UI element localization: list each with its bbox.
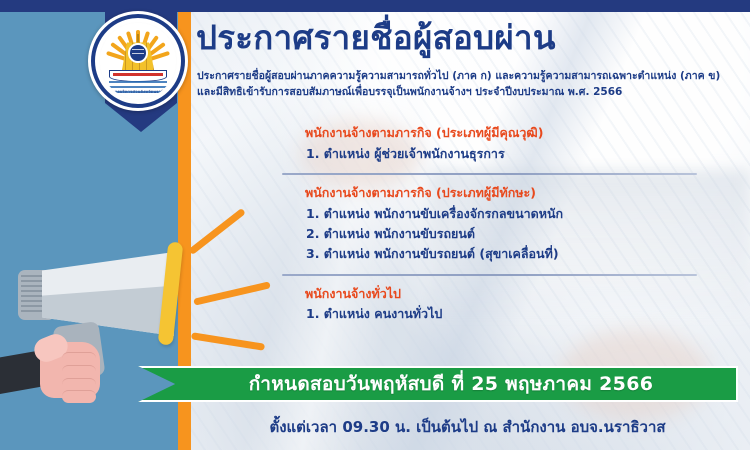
hand-finger	[62, 365, 96, 378]
seal-field: องค์การบริหารส่วนจังหวัดนราธิวาส	[100, 23, 176, 99]
section-heading: พนักงานจ้างตามภารกิจ (ประเภทผู้มีทักษะ)	[305, 184, 725, 203]
position-sections: พนักงานจ้างตามภารกิจ (ประเภทผู้มีคุณวุฒิ…	[305, 124, 725, 325]
subtitle-line-1: ประกาศรายชื่อผู้สอบผ่านภาคความรู้ความสาม…	[197, 69, 749, 84]
section-item: 3. ตำแหน่ง พนักงานขับรถยนต์ (สุขาเคลื่อน…	[305, 244, 725, 264]
seal-caption: องค์การบริหารส่วนจังหวัดนราธิวาส	[100, 88, 176, 95]
section-qualification: พนักงานจ้างตามภารกิจ (ประเภทผู้มีคุณวุฒิ…	[305, 124, 725, 164]
section-skill: พนักงานจ้างตามภารกิจ (ประเภทผู้มีทักษะ) …	[305, 184, 725, 265]
announcement-poster: องค์การบริหารส่วนจังหวัดนราธิวาส ประกาศร…	[0, 0, 750, 450]
section-heading: พนักงานจ้างทั่วไป	[305, 285, 725, 304]
exam-time-location-text: ตั้งแต่เวลา 09.30 น. เป็นต้นไป ณ สำนักงา…	[190, 415, 745, 439]
section-item: 2. ตำแหน่ง พนักงานขับรถยนต์	[305, 224, 725, 244]
section-item: 1. ตำแหน่ง คนงานทั่วไป	[305, 304, 725, 324]
section-general: พนักงานจ้างทั่วไป 1. ตำแหน่ง คนงานทั่วไป	[305, 285, 725, 325]
section-divider	[282, 173, 697, 175]
section-heading: พนักงานจ้างตามภารกิจ (ประเภทผู้มีคุณวุฒิ…	[305, 124, 725, 143]
section-item: 1. ตำแหน่ง พนักงานขับเครื่องจักรกลขนาดหน…	[305, 204, 725, 224]
section-item: 1. ตำแหน่ง ผู้ช่วยเจ้าพนักงานธุรการ	[305, 144, 725, 164]
hand-finger	[62, 390, 96, 403]
hand-icon	[32, 332, 116, 404]
exam-date-text: กำหนดสอบวันพฤหัสบดี ที่ 25 พฤษภาคม 2566	[223, 369, 653, 399]
section-divider	[282, 274, 697, 276]
subtitle-line-2: และมีสิทธิเข้ารับการสอบสัมภาษณ์เพื่อบรรจ…	[197, 85, 749, 100]
page-title: ประกาศรายชื่อผู้สอบผ่าน	[196, 20, 741, 57]
hand-finger	[62, 352, 96, 365]
exam-date-ribbon: กำหนดสอบวันพฤหัสบดี ที่ 25 พฤษภาคม 2566	[138, 366, 738, 402]
seal-globe-icon	[128, 43, 148, 63]
organization-seal-icon: องค์การบริหารส่วนจังหวัดนราธิวาส	[88, 11, 188, 111]
